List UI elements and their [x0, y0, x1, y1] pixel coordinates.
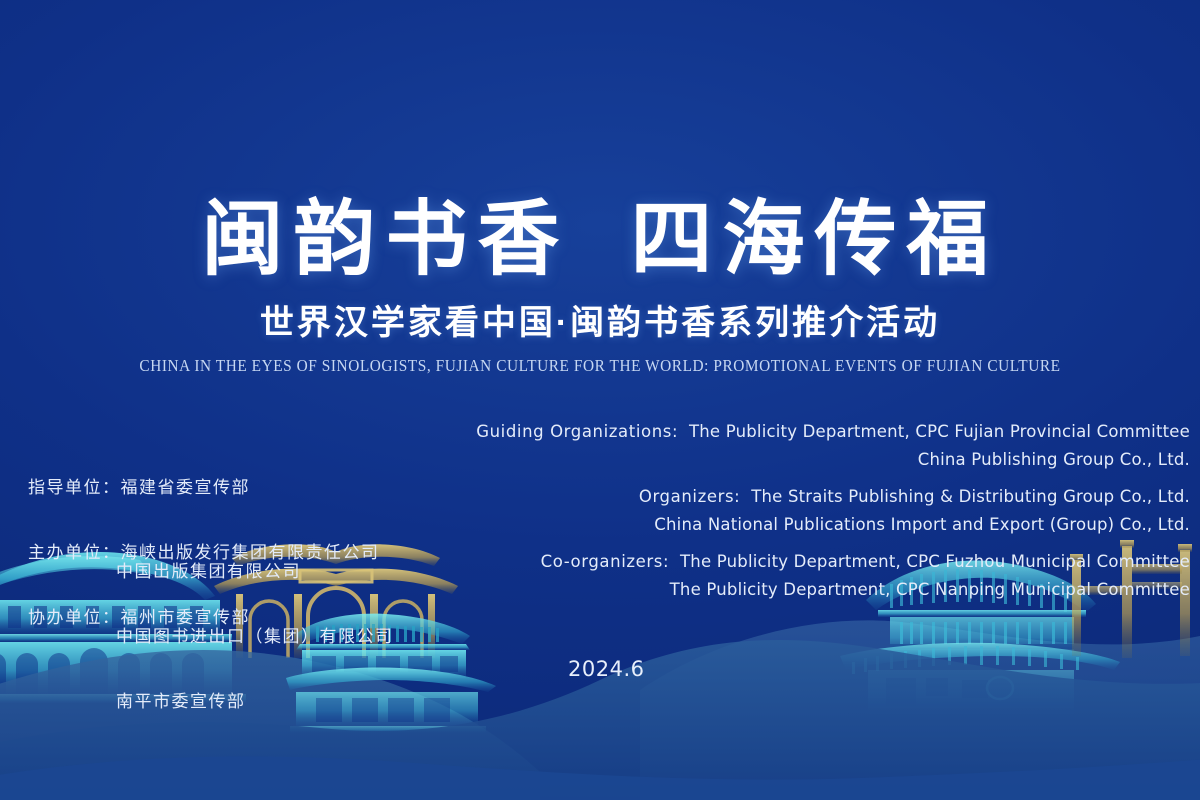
credit-en-line: The Publicity Department, CPC Fuzhou Mun…	[680, 552, 1190, 571]
credit-cn-label: 协办单位：	[28, 608, 121, 628]
credit-en-line: China National Publications Import and E…	[639, 511, 1190, 539]
credit-en-line: China Publishing Group Co., Ltd.	[476, 446, 1190, 474]
credits-block: 指导单位：福建省委宣传部 中国出版集团有限公司 Guiding Organiza…	[0, 418, 1200, 618]
credit-en-line: The Publicity Department, CPC Fujian Pro…	[689, 422, 1190, 441]
main-title: 闽韵书香 四海传福	[0, 196, 1200, 285]
credit-cn-coorganizers: 协办单位：福州市委宣传部 南平市委宣传部	[0, 548, 250, 772]
english-tagline: CHINA IN THE EYES OF SINOLOGISTS, FUJIAN…	[42, 356, 1158, 376]
date-stamp: 2024.6	[568, 657, 644, 681]
credit-en-line: The Publicity Department, CPC Nanping Mu…	[541, 576, 1190, 604]
title-block: 闽韵书香 四海传福 世界汉学家看中国·闽韵书香系列推介活动 CHINA IN T…	[0, 196, 1200, 376]
credit-cn-line: 南平市委宣传部	[28, 688, 250, 716]
credit-cn-line: 福州市委宣传部	[121, 608, 251, 628]
credit-en-label: Guiding Organizations:	[476, 422, 678, 441]
credit-en-organizers: Organizers: The Straits Publishing & Dis…	[639, 483, 1200, 539]
poster-canvas: 闽韵书香 四海传福 世界汉学家看中国·闽韵书香系列推介活动 CHINA IN T…	[0, 0, 1200, 800]
sub-title: 世界汉学家看中国·闽韵书香系列推介活动	[0, 295, 1200, 344]
credit-en-label: Organizers:	[639, 487, 740, 506]
credit-en-label: Co-organizers:	[541, 552, 670, 571]
credit-en-guiding: Guiding Organizations: The Publicity Dep…	[476, 418, 1200, 474]
credit-en-coorganizers: Co-organizers: The Publicity Department,…	[541, 548, 1200, 604]
credit-en-line: The Straits Publishing & Distributing Gr…	[751, 487, 1190, 506]
